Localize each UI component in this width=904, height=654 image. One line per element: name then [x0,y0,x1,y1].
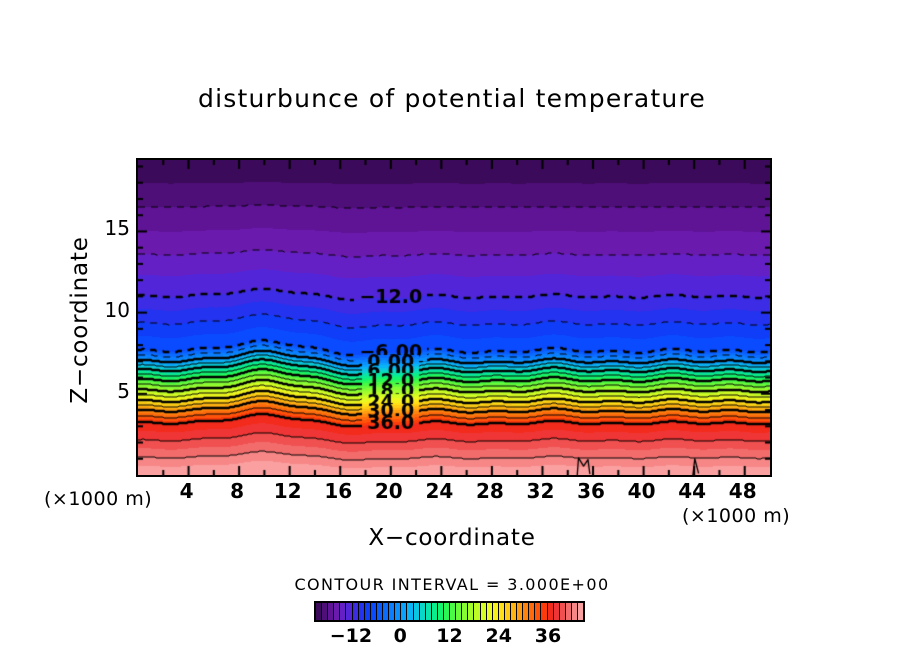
y-tick-label: 15 [90,216,130,240]
y-axis-title: Z−coordinate [67,200,93,440]
x-axis-tick-labels: 4812162024283236404448 [136,479,768,505]
y-tick-label: 5 [90,379,130,403]
x-tick-label: 40 [620,479,664,503]
y-axis-units-label: (×1000 m) [44,488,152,510]
colorbar [314,601,585,622]
colorbar-tick-label: 36 [521,625,575,647]
colorbar-swatch [578,603,583,620]
x-tick-label: 44 [670,479,714,503]
x-tick-label: 36 [569,479,613,503]
x-tick-label: 16 [316,479,360,503]
colorbar-tick-label: 12 [423,625,477,647]
contour-plot-area [136,158,772,477]
chart-title: disturbunce of potential temperature [0,84,904,113]
colorbar-tick-label: 0 [373,625,427,647]
figure-canvas: disturbunce of potential temperature 510… [0,0,904,654]
contour-interval-caption: CONTOUR INTERVAL = 3.000E+00 [0,575,904,594]
x-tick-label: 4 [165,479,209,503]
x-axis-units-label: (×1000 m) [682,505,790,527]
x-tick-label: 32 [518,479,562,503]
colorbar-tick-label: 24 [472,625,526,647]
x-tick-label: 24 [417,479,461,503]
y-tick-label: 10 [90,298,130,322]
x-tick-label: 8 [215,479,259,503]
x-tick-label: 28 [468,479,512,503]
colorbar-tick-label: −12 [324,625,378,647]
x-tick-label: 20 [367,479,411,503]
x-tick-label: 12 [266,479,310,503]
x-tick-label: 48 [721,479,765,503]
colorbar-tick-labels: −120122436 [314,625,585,649]
x-axis-title: X−coordinate [0,525,904,551]
contour-field-canvas [138,160,770,475]
